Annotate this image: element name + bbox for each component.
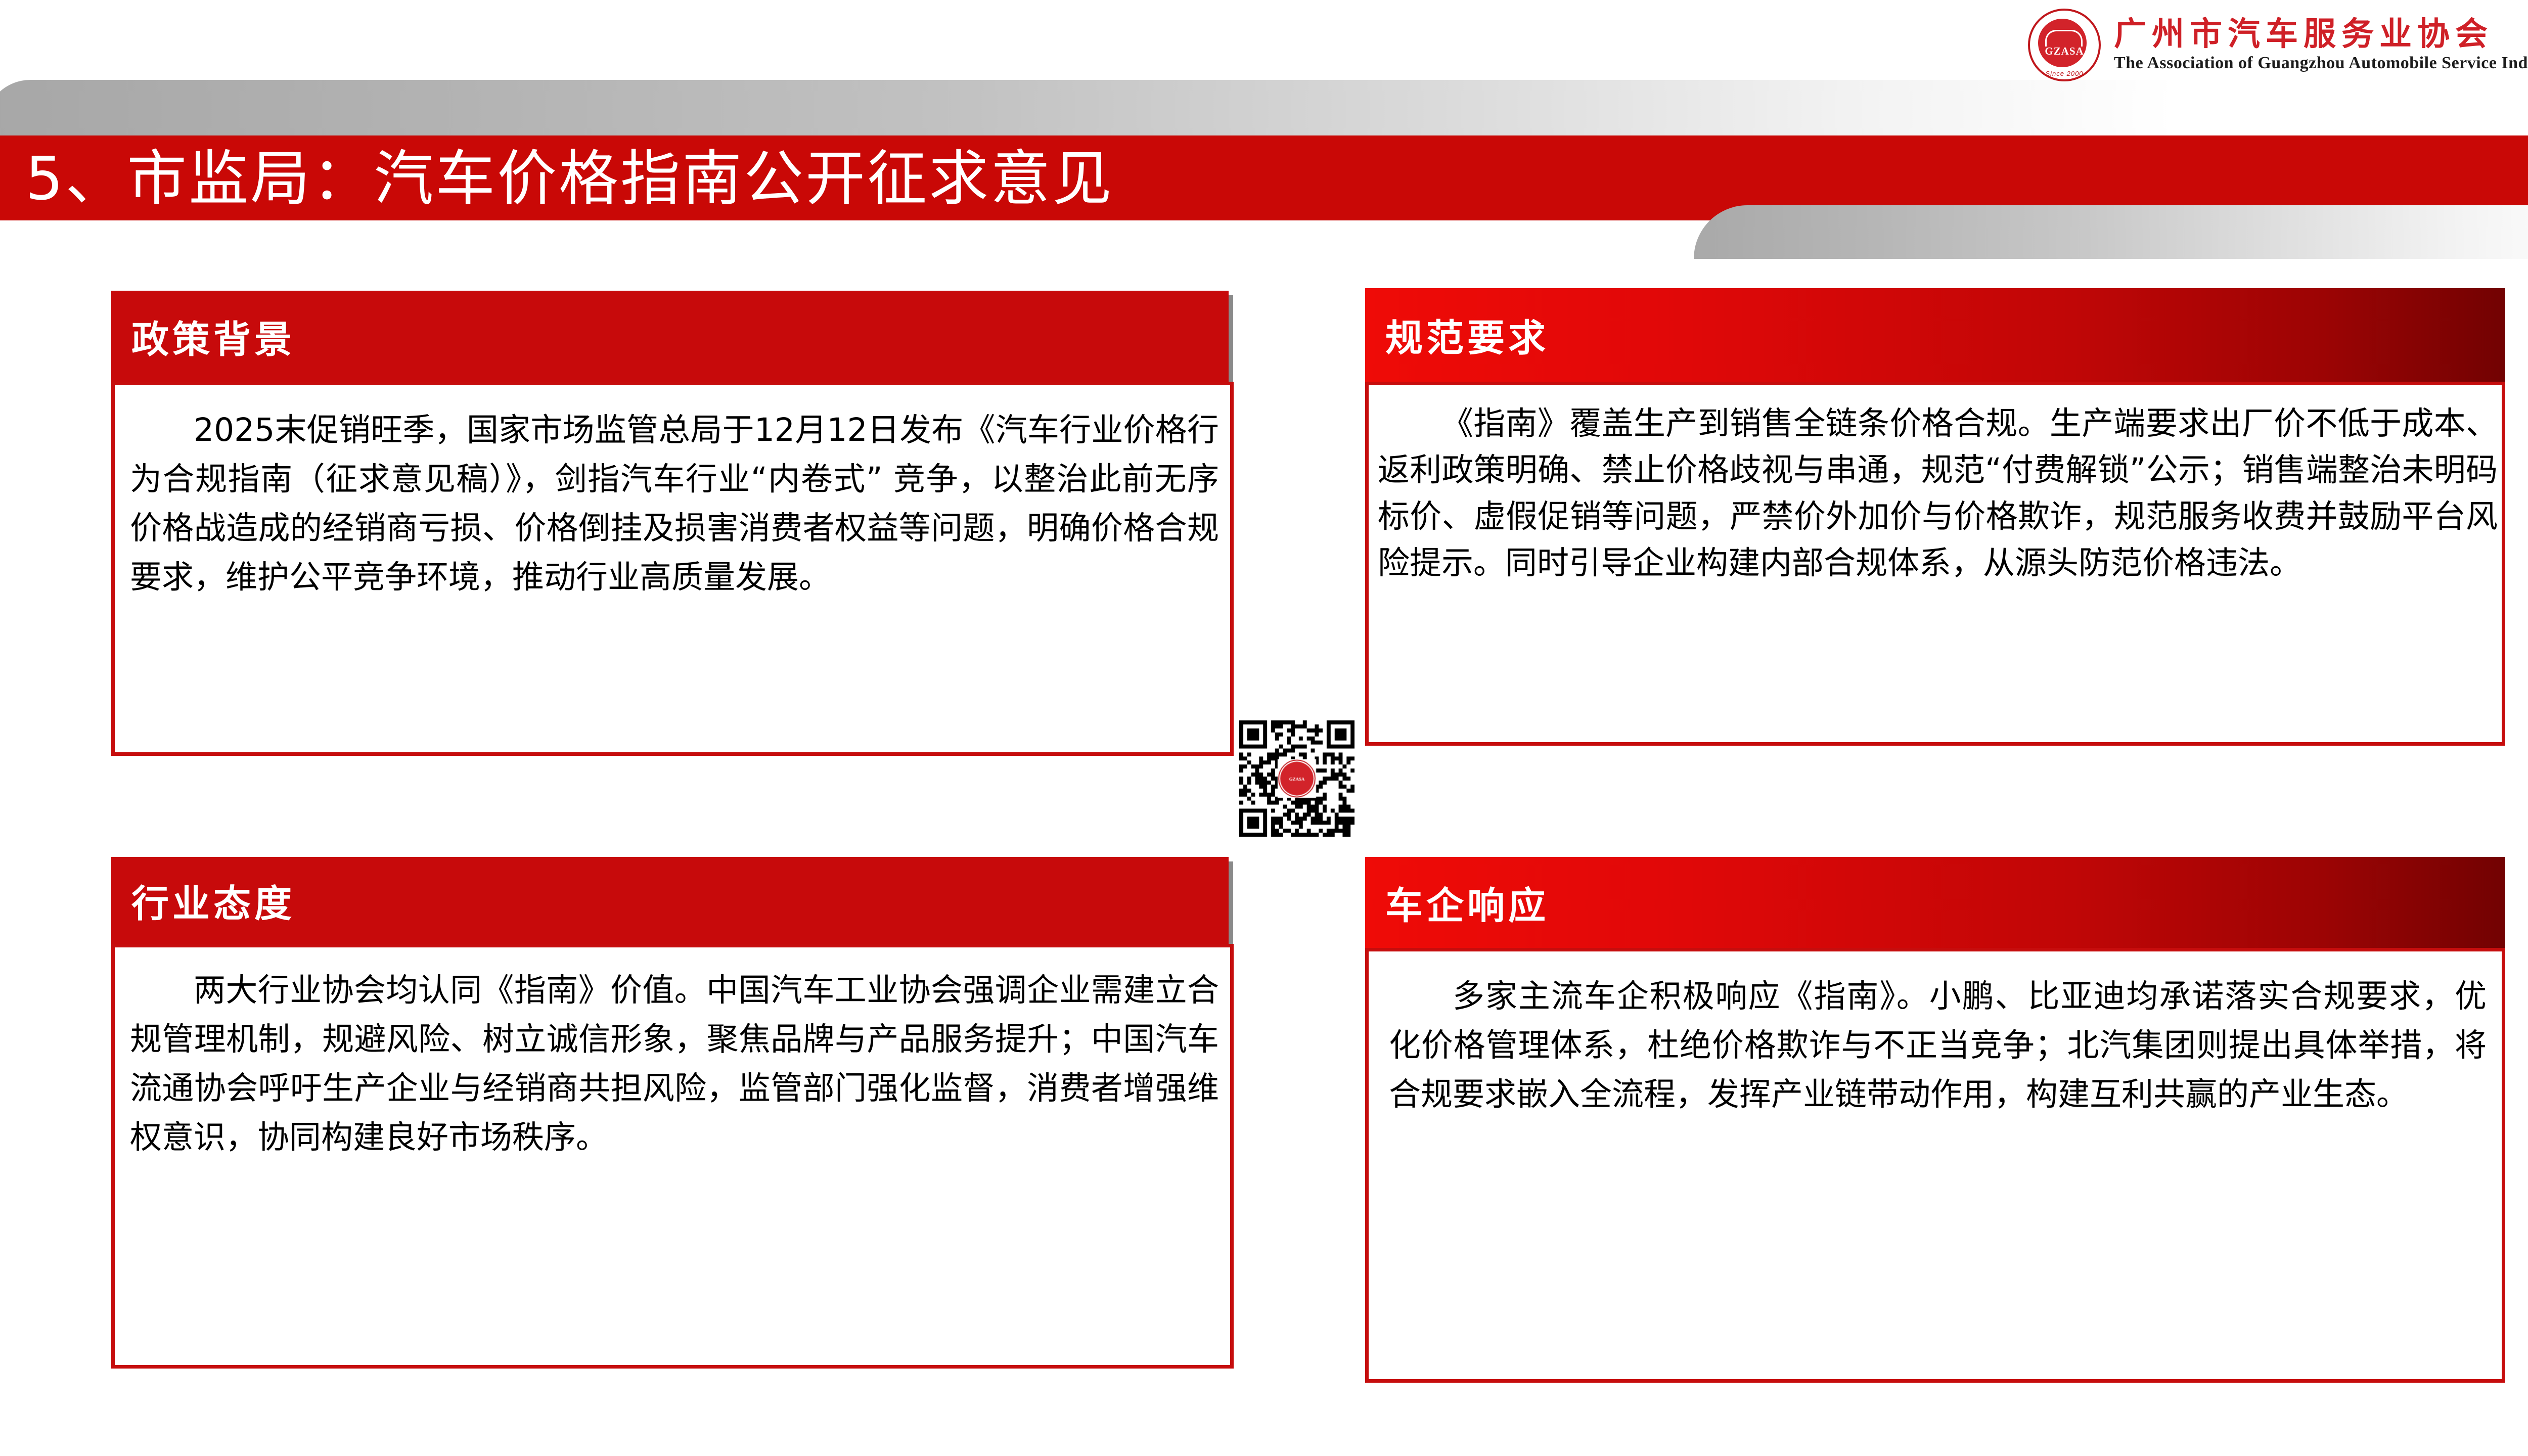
card-industry-attitude-text: 两大行业协会均认同《指南》价值。中国汽车工业协会强调企业需建立合规管理机制，规避… [130,966,1219,1162]
logo-text-block: 广州市汽车服务业协会 The Association of Guangzhou … [2114,16,2528,74]
qr-code[interactable] [1239,720,1355,837]
card-oem-response-body: 多家主流车企积极响应《指南》。小鹏、比亚迪均承诺落实合规要求，优化价格管理体系，… [1365,948,2505,1383]
card-oem-response-header: 车企响应 [1365,857,2505,948]
title-gradient-accent [1694,205,2528,259]
seal-since-text: Since 2000 [2030,70,2099,77]
card-norm-requirements-body: 《指南》覆盖生产到销售全链条价格合规。生产端要求出厂价不低于成本、返利政策明确、… [1365,382,2505,746]
qr-code-image [1239,720,1355,837]
card-oem-response-title: 车企响应 [1365,876,1549,930]
card-norm-requirements-header: 规范要求 [1365,288,2505,382]
card-policy-background: 政策背景 2025末促销旺季，国家市场监管总局于12月12日发布《汽车行业价格行… [111,291,1234,756]
card-norm-requirements-title: 规范要求 [1365,308,1549,362]
card-oem-response: 车企响应 多家主流车企积极响应《指南》。小鹏、比亚迪均承诺落实合规要求，优化价格… [1365,857,2505,1383]
card-oem-response-text: 多家主流车企积极响应《指南》。小鹏、比亚迪均承诺落实合规要求，优化价格管理体系，… [1389,972,2487,1119]
card-policy-background-body: 2025末促销旺季，国家市场监管总局于12月12日发布《汽车行业价格行为合规指南… [111,382,1234,756]
car-icon [2045,30,2083,47]
logo-name-cn: 广州市汽车服务业协会 [2114,16,2528,53]
card-industry-attitude-title: 行业态度 [111,874,295,928]
card-norm-requirements: 规范要求 《指南》覆盖生产到销售全链条价格合规。生产端要求出厂价不低于成本、返利… [1365,288,2505,746]
card-policy-background-text: 2025末促销旺季，国家市场监管总局于12月12日发布《汽车行业价格行为合规指南… [130,405,1219,602]
card-policy-background-title: 政策背景 [111,309,295,363]
card-industry-attitude-body: 两大行业协会均认同《指南》价值。中国汽车工业协会强调企业需建立合规管理机制，规避… [111,944,1234,1369]
page-title: 5、市监局：汽车价格指南公开征求意见 [25,141,1114,216]
association-seal-icon: GZASA Since 2000 [2028,9,2101,81]
top-gradient-bar [0,80,2174,136]
card-policy-background-header: 政策背景 [111,291,1229,382]
association-logo: GZASA Since 2000 广州市汽车服务业协会 The Associat… [2028,7,2528,83]
card-norm-requirements-text: 《指南》覆盖生产到销售全链条价格合规。生产端要求出厂价不低于成本、返利政策明确、… [1378,400,2498,586]
card-industry-attitude-header: 行业态度 [111,857,1229,944]
seal-mark-text: GZASA [2030,45,2099,58]
logo-name-en: The Association of Guangzhou Automobile … [2114,53,2528,74]
card-industry-attitude: 行业态度 两大行业协会均认同《指南》价值。中国汽车工业协会强调企业需建立合规管理… [111,857,1234,1369]
